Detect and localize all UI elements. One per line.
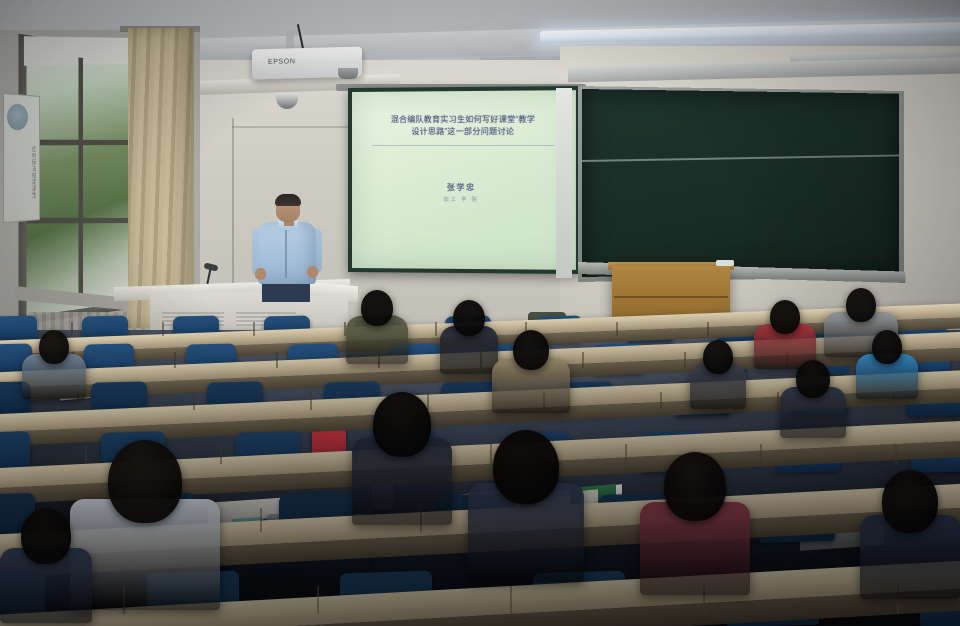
desk-seam bbox=[253, 322, 255, 336]
poster-vertical-text: 白何民五绕走进生 bbox=[5, 145, 36, 212]
desk-seam bbox=[777, 392, 779, 410]
desk-seam bbox=[317, 586, 319, 614]
desk-seam bbox=[85, 444, 87, 464]
podium-microphone-icon bbox=[716, 260, 734, 266]
presenter-hand-left bbox=[255, 268, 266, 280]
classroom-photo: 白何民五绕走进生 EPSON 混合编队教育实习生如何写好课堂“教学 设计思路”这… bbox=[0, 0, 960, 626]
desk-seam bbox=[310, 392, 312, 410]
desk-seam bbox=[71, 322, 73, 336]
audience-head bbox=[21, 508, 71, 564]
slide-author: 张学忠 bbox=[396, 182, 527, 193]
desk-seam bbox=[510, 586, 512, 614]
podium-panel-line bbox=[614, 296, 728, 298]
desk-seam bbox=[174, 352, 176, 368]
projector-lens bbox=[338, 68, 358, 79]
audience-head bbox=[796, 360, 830, 398]
audience-head bbox=[513, 330, 549, 370]
desk-seam bbox=[260, 508, 262, 532]
desk-seam bbox=[435, 322, 437, 336]
desk-seam bbox=[684, 352, 686, 368]
audience-head bbox=[770, 300, 800, 334]
desk-seam bbox=[193, 392, 195, 410]
slide-subtitle: 加江 学 院 bbox=[396, 196, 527, 203]
desk-seam bbox=[162, 322, 164, 336]
desk-seam bbox=[895, 444, 897, 464]
slide-divider-rule bbox=[372, 145, 554, 146]
audience-head bbox=[108, 440, 182, 523]
slide-title-line1: 混合编队教育实习生如何写好课堂“教学 bbox=[391, 115, 535, 124]
slide-title: 混合编队教育实习生如何写好课堂“教学 设计思路”这一部分问题讨论 bbox=[366, 114, 561, 138]
audience-head bbox=[39, 330, 69, 364]
audience-head bbox=[703, 340, 733, 374]
desk-seam bbox=[490, 444, 492, 464]
audience-head bbox=[882, 470, 938, 533]
window-mullion-horizontal-upper bbox=[27, 140, 136, 146]
desk-seam bbox=[276, 352, 278, 368]
presenter-shirt-placket bbox=[285, 228, 287, 278]
presenter-hand-right bbox=[307, 266, 318, 278]
desk-seam bbox=[625, 444, 627, 464]
desk-seam bbox=[582, 352, 584, 368]
desk-seam bbox=[616, 322, 618, 336]
presenter-hair bbox=[275, 194, 301, 206]
audience-head bbox=[453, 300, 485, 336]
audience-head bbox=[361, 290, 393, 326]
poster-portrait-icon bbox=[7, 104, 28, 131]
desk-seam bbox=[220, 444, 222, 464]
desk-seam bbox=[760, 444, 762, 464]
desk-seam bbox=[707, 322, 709, 336]
wall-seam-vertical bbox=[232, 118, 234, 298]
desk-seam bbox=[427, 392, 429, 410]
blackboard[interactable] bbox=[582, 89, 899, 277]
slide-title-line2: 设计思路”这一部分问题讨论 bbox=[411, 127, 514, 136]
window-mullion-vertical bbox=[78, 57, 83, 301]
audience-head bbox=[373, 392, 431, 457]
audience-head bbox=[846, 288, 876, 322]
curtain[interactable] bbox=[128, 28, 194, 328]
audience-head bbox=[493, 430, 559, 504]
window-mullion-horizontal-lower bbox=[27, 218, 136, 224]
audience-head bbox=[872, 330, 902, 364]
audience-head bbox=[664, 452, 726, 521]
desk-seam bbox=[660, 392, 662, 410]
blackboard-side-panel bbox=[556, 88, 572, 278]
